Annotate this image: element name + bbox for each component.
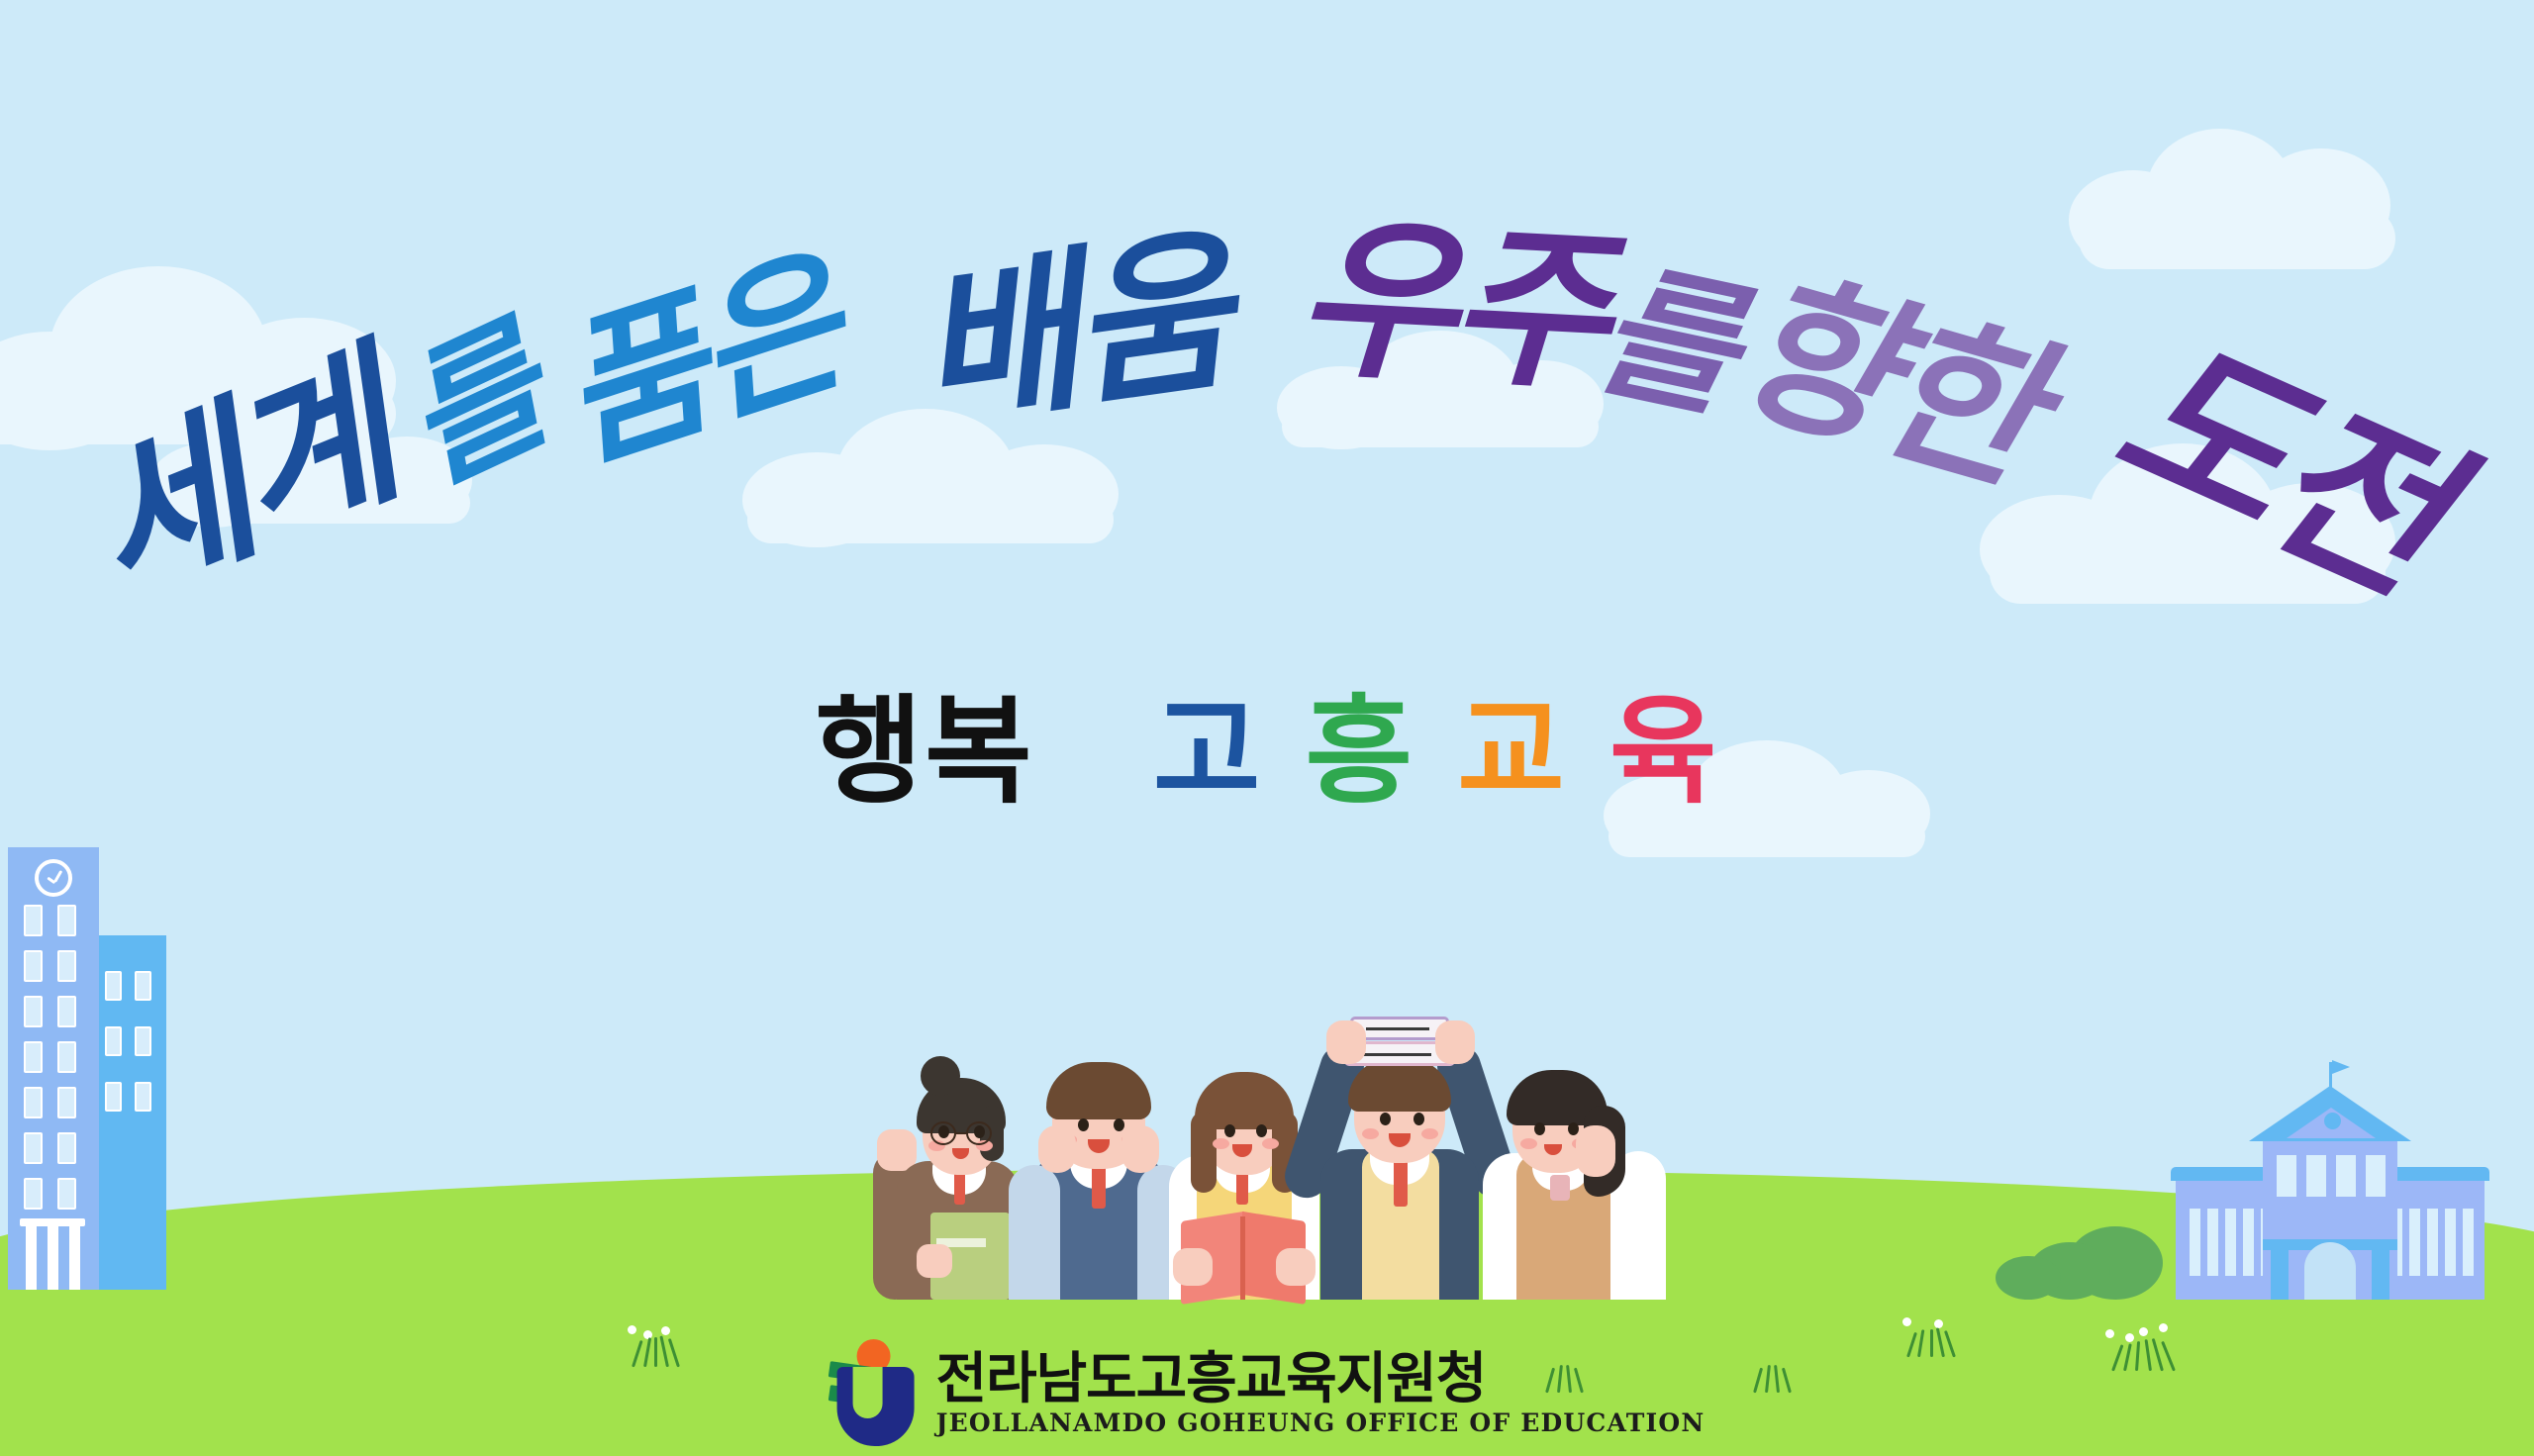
student-2-hand-l <box>1038 1125 1076 1173</box>
subline-slogan: 행복 고 흥 교 육 <box>0 693 2534 810</box>
student-3-cheek-l <box>1213 1138 1229 1149</box>
student-2-eye-l <box>1078 1118 1089 1131</box>
student-1-tie <box>954 1171 965 1205</box>
office-tower-secondary <box>94 935 166 1290</box>
subline-part-3: 흥 <box>1306 693 1415 810</box>
student-5-hand <box>1576 1125 1615 1177</box>
school-entrance-door <box>2304 1242 2356 1300</box>
grass-tuft-1 <box>624 1321 693 1367</box>
student-5 <box>1473 1032 1666 1300</box>
student-1-fist <box>877 1129 917 1171</box>
student-4-eye-l <box>1380 1113 1391 1125</box>
student-5-eye-r <box>1568 1122 1579 1135</box>
student-4-cheek-r <box>1421 1128 1438 1139</box>
student-3-hair-left <box>1191 1112 1217 1193</box>
student-4-hand-r <box>1435 1020 1475 1064</box>
student-2-eye-r <box>1114 1118 1124 1131</box>
logo-korean-name: 전라남도고흥교육지원청 <box>936 1351 1706 1409</box>
student-3-cheek-r <box>1262 1138 1279 1149</box>
poster-canvas: 세계 를 품은 배움 우주 를 향한 도전 행복 고 흥 교 육 <box>0 0 2534 1456</box>
bush-small <box>1996 1256 2061 1300</box>
clock-icon <box>35 859 72 897</box>
school-building <box>2176 1116 2485 1300</box>
logo-english-name: JEOLLANAMDO GOHEUNG OFFICE OF EDUCATION <box>936 1409 1706 1437</box>
organization-logo[interactable]: 전라남도고흥교육지원청 JEOLLANAMDO GOHEUNG OFFICE O… <box>829 1339 1706 1448</box>
school-entrance-col-left <box>2271 1250 2289 1300</box>
student-1-eye-l <box>938 1125 949 1138</box>
tower-pillars <box>24 1218 81 1290</box>
student-1-hand <box>917 1244 952 1278</box>
grass-tuft-3 <box>2103 1321 2183 1371</box>
student-4-eye-r <box>1413 1113 1424 1125</box>
student-2-hair <box>1046 1062 1151 1119</box>
logo-mark-icon <box>829 1339 919 1448</box>
logo-text-block: 전라남도고흥교육지원청 JEOLLANAMDO GOHEUNG OFFICE O… <box>936 1351 1706 1436</box>
student-3-eye-r <box>1256 1124 1267 1137</box>
student-2-arm-l <box>1009 1165 1060 1300</box>
student-5-cheek-l <box>1520 1138 1537 1149</box>
grass-tuft-5 <box>1747 1355 1806 1395</box>
school-entrance-col-right <box>2372 1250 2389 1300</box>
grass-tuft-2 <box>1900 1315 1970 1359</box>
students-group <box>871 973 1683 1300</box>
student-3-hand-l <box>1173 1248 1213 1286</box>
logo-stem-cut <box>853 1367 883 1418</box>
student-4-tie <box>1394 1157 1408 1207</box>
subline-part-5: 육 <box>1609 693 1719 810</box>
student-5-eye-l <box>1534 1122 1545 1135</box>
subline-part-1: 행복 <box>816 693 1034 810</box>
student-3-eye-l <box>1224 1124 1235 1137</box>
student-4-cheek-l <box>1362 1128 1379 1139</box>
office-tower-main <box>8 847 99 1290</box>
subline-part-4: 교 <box>1457 693 1567 810</box>
student-5-ribbon <box>1550 1175 1570 1201</box>
student-1-hair-bun <box>921 1056 960 1096</box>
subline-part-2: 고 <box>1153 693 1263 810</box>
student-1-eye-r <box>974 1125 985 1138</box>
school-pediment-emblem <box>2324 1113 2341 1129</box>
student-4-hand-l <box>1326 1020 1366 1064</box>
flag-icon <box>2332 1060 2350 1074</box>
